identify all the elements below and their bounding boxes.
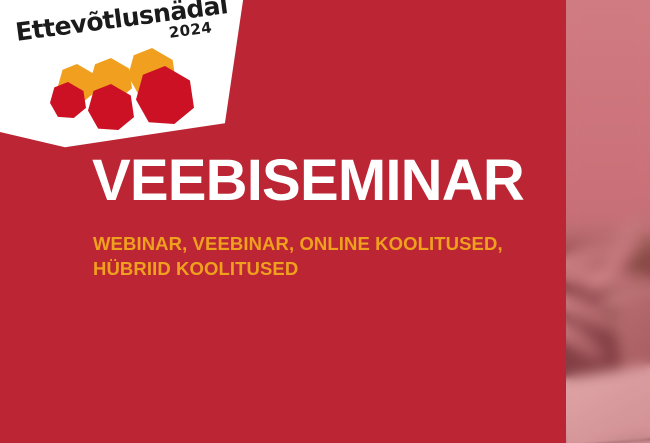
logo-plate: Ettevõtlusnädal 2024 <box>0 0 260 160</box>
logo-wordmark: Ettevõtlusnädal 2024 <box>14 0 216 45</box>
subtitle-line-1: WEBINAR, VEEBINAR, ONLINE KOOLITUSED, <box>93 232 573 257</box>
logo-year: 2024 <box>168 20 213 41</box>
page-title: VEEBISEMINAR <box>92 152 524 210</box>
photo-red-tint <box>566 0 650 443</box>
subtitle: WEBINAR, VEEBINAR, ONLINE KOOLITUSED, HÜ… <box>93 232 573 282</box>
webinar-banner: Ettevõtlusnädal 2024 VEEBISEMINAR WEBINA… <box>0 0 650 443</box>
logo-hexagon-cluster-icon <box>58 48 208 126</box>
hexagon-red-right <box>136 66 194 124</box>
subtitle-line-2: HÜBRIID KOOLITUSED <box>93 257 573 282</box>
interior-photo <box>566 0 650 443</box>
